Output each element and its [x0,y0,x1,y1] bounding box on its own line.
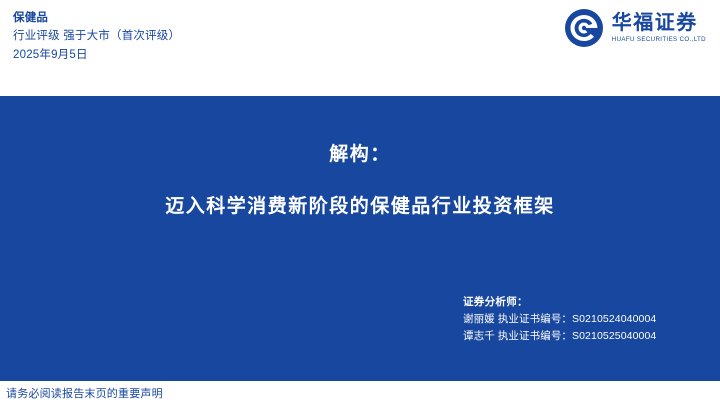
analyst-label: 证券分析师： [463,294,656,311]
analyst-info: 证券分析师： 谢丽媛 执业证书编号：S0210524040004 谭志千 执业证… [463,294,656,345]
logo-company-name-en: HUAFU SECURITIES CO.,LTD [612,37,706,43]
cover-title-group: 解构： 迈入科学消费新阶段的保健品行业投资框架 [0,141,720,221]
cover-footer: 请务必阅读报告末页的重要声明 [0,381,720,405]
cover-blue-band: 解构： 迈入科学消费新阶段的保健品行业投资框架 证券分析师： 谢丽媛 执业证书编… [0,96,720,381]
disclaimer-text: 请务必阅读报告末页的重要声明 [6,385,163,401]
huafu-logo-icon [564,8,604,48]
report-cover-page: 保健品 行业评级 强于大市（首次评级） 2025年9月5日 华福证券 HUAFU… [0,0,720,405]
page-subtitle: 迈入科学消费新阶段的保健品行业投资框架 [0,193,720,221]
cover-header: 保健品 行业评级 强于大市（首次评级） 2025年9月5日 华福证券 HUAFU… [0,0,720,96]
logo-company-name-cn: 华福证券 [612,13,706,33]
industry-name: 保健品 [13,10,180,27]
industry-rating: 行业评级 强于大市（首次评级） [13,27,180,46]
header-meta-block: 保健品 行业评级 强于大市（首次评级） 2025年9月5日 [13,10,180,65]
company-logo: 华福证券 HUAFU SECURITIES CO.,LTD [564,8,706,48]
analyst-entry-1: 谢丽媛 执业证书编号：S0210524040004 [463,311,656,328]
analyst-entry-2: 谭志千 执业证书编号：S0210525040004 [463,328,656,345]
report-date: 2025年9月5日 [13,46,180,65]
logo-text-block: 华福证券 HUAFU SECURITIES CO.,LTD [612,13,706,43]
page-title: 解构： [0,141,720,169]
